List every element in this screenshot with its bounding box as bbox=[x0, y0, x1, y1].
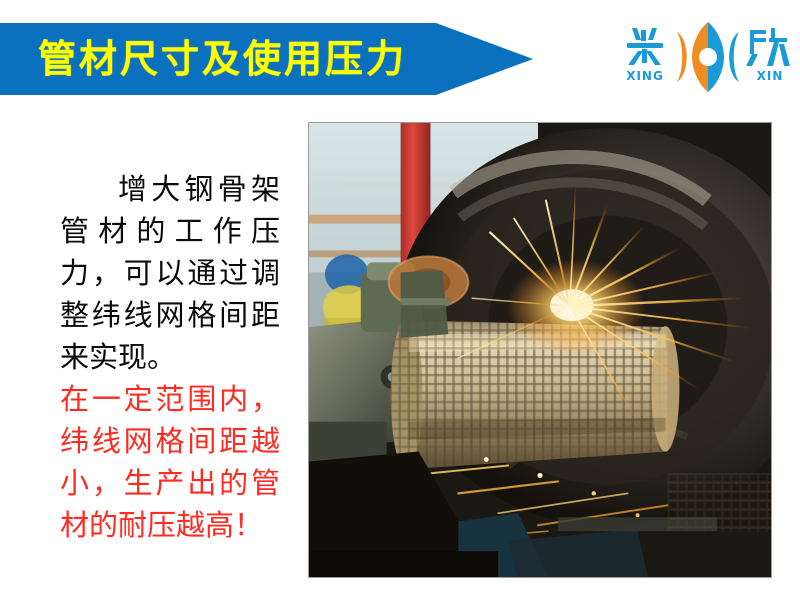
pipe-collar bbox=[401, 270, 451, 338]
logo-center-dot-icon bbox=[699, 48, 717, 66]
page-title: 管材尺寸及使用压力 bbox=[38, 40, 407, 78]
slide-root: 管材尺寸及使用压力 XING bbox=[0, 0, 800, 593]
logo-char-xing-icon bbox=[627, 28, 663, 65]
logo-char-xin-icon bbox=[746, 28, 790, 66]
logo-left-crescent-icon bbox=[677, 32, 687, 82]
logo-pinyin-xin: XIN bbox=[757, 69, 784, 83]
logo-right-crescent-icon bbox=[729, 32, 739, 82]
body-text-column: 增大钢骨架管材的工作压力，可以通过调整纬线网格间距来实现。 在一定范围内，纬线网… bbox=[60, 168, 280, 546]
production-photo bbox=[308, 122, 772, 578]
header-banner: 管材尺寸及使用压力 bbox=[0, 23, 533, 95]
logo-pinyin-xing: XING bbox=[626, 69, 664, 83]
red-paragraph: 在一定范围内，纬线网格间距越小，生产出的管材的耐压越高！ bbox=[60, 378, 280, 546]
company-logo: XING XIN bbox=[622, 18, 794, 96]
black-paragraph: 增大钢骨架管材的工作压力，可以通过调整纬线网格间距来实现。 bbox=[60, 168, 280, 378]
